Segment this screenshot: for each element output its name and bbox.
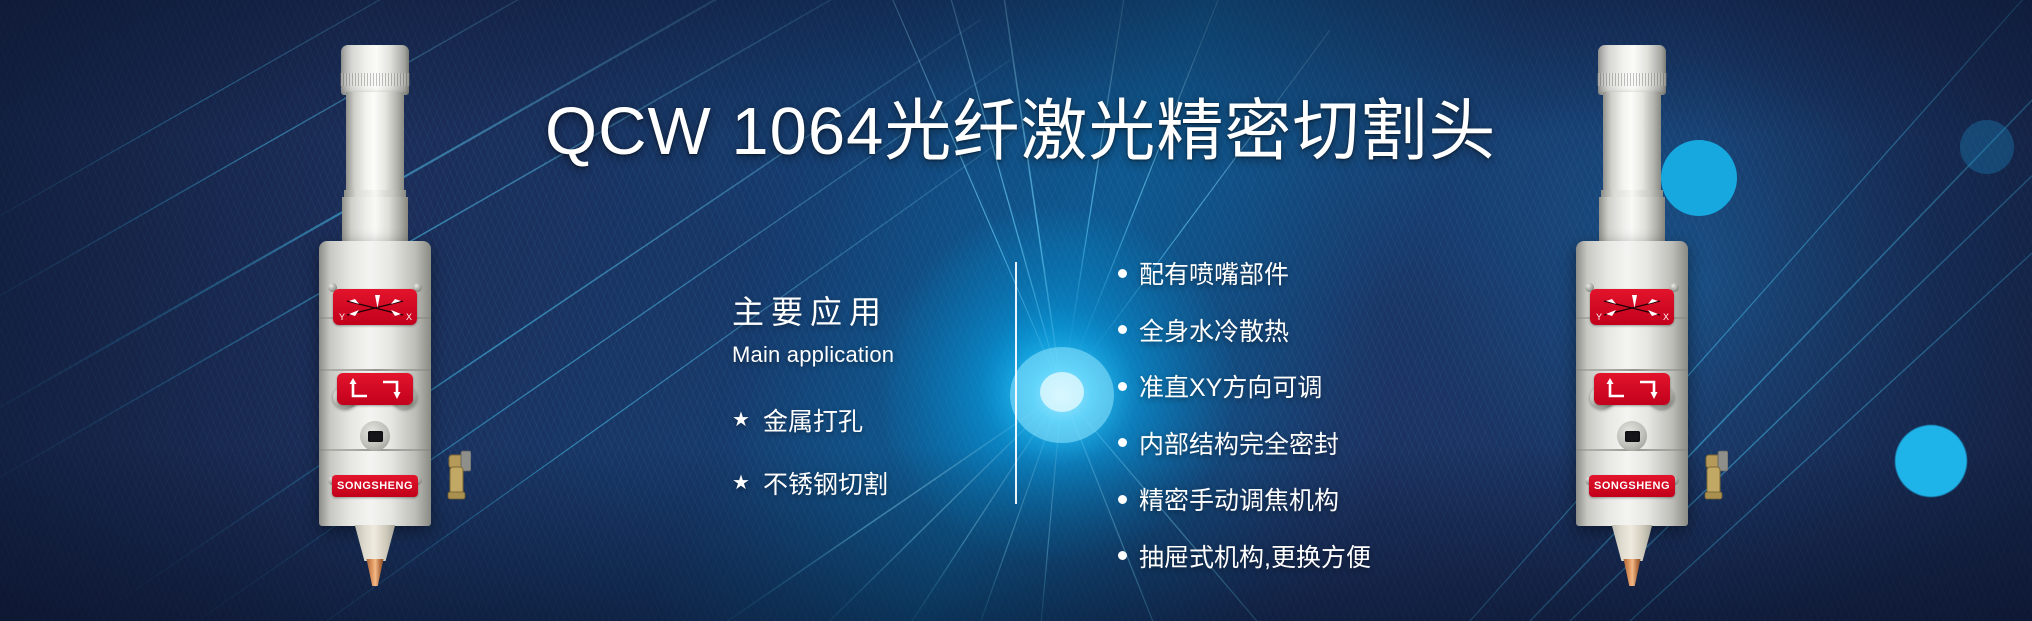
bullet-dot-icon xyxy=(1118,495,1127,504)
list-item: 全身水冷散热 xyxy=(1118,312,1371,348)
axis-label-x: X xyxy=(1663,312,1669,322)
head-lower-tube xyxy=(1599,197,1665,244)
xy-arrows-icon: Y X xyxy=(1590,289,1674,325)
list-item: 内部结构完全密封 xyxy=(1118,425,1371,461)
bullet-dot-icon xyxy=(1118,269,1127,278)
brand-label: SONGSHENG xyxy=(332,475,418,497)
list-item: 配有喷嘴部件 xyxy=(1118,255,1371,291)
sight-window-inner xyxy=(368,431,383,442)
feature-list: 配有喷嘴部件 全身水冷散热 准直XY方向可调 内部结构完全密封 精密手动调焦机构… xyxy=(1118,255,1371,594)
axis-label-x: X xyxy=(406,312,412,322)
head-knurled-ring xyxy=(340,73,410,86)
xy-alignment-label: Y X xyxy=(1590,289,1674,325)
vertical-divider xyxy=(1015,262,1017,504)
main-application-heading-cn: 主要应用 xyxy=(732,287,1022,333)
drawer-arrows-icon xyxy=(337,373,413,405)
sight-window xyxy=(1617,421,1647,451)
feature-item-label: 全身水冷散热 xyxy=(1139,312,1289,348)
xy-alignment-label: Y X xyxy=(333,289,417,325)
main-application-block: 主要应用 Main application ★ 金属打孔 ★ 不锈钢切割 xyxy=(732,287,1022,528)
application-item-label: 金属打孔 xyxy=(763,402,863,438)
product-banner: Y X SONGSHENG xyxy=(0,0,2032,621)
head-collimator-tube xyxy=(1603,92,1661,196)
drawer-direction-label xyxy=(337,373,413,405)
bullet-dot-icon xyxy=(1118,325,1127,334)
bullet-dot-icon xyxy=(1118,551,1127,560)
head-top-cap xyxy=(341,45,409,95)
banner-title: QCW 1064光纤激光精密切割头 xyxy=(545,98,1496,165)
decorative-circle-faint xyxy=(1960,120,2014,174)
list-item: 精密手动调焦机构 xyxy=(1118,481,1371,517)
axis-label-y: Y xyxy=(339,312,345,322)
list-item: ★ 不锈钢切割 xyxy=(732,465,1022,501)
application-item-label: 不锈钢切割 xyxy=(763,465,888,501)
decorative-circle-top xyxy=(1661,140,1737,216)
axis-label-y: Y xyxy=(1596,312,1602,322)
star-icon: ★ xyxy=(732,473,750,493)
feature-item-label: 内部结构完全密封 xyxy=(1139,425,1339,461)
head-lower-tube xyxy=(342,197,408,244)
feature-item-label: 准直XY方向可调 xyxy=(1139,368,1322,404)
brand-label: SONGSHENG xyxy=(1589,475,1675,497)
drawer-arrows-icon xyxy=(1594,373,1670,405)
air-fitting xyxy=(1698,449,1728,503)
feature-item-label: 精密手动调焦机构 xyxy=(1139,481,1339,517)
sight-window-inner xyxy=(1625,431,1640,442)
list-item: 准直XY方向可调 xyxy=(1118,368,1371,404)
feature-item-label: 抽屉式机构,更换方便 xyxy=(1139,538,1371,574)
body-seam-mid xyxy=(319,369,431,371)
head-collimator-tube xyxy=(346,92,404,196)
air-fitting xyxy=(441,449,471,503)
star-icon: ★ xyxy=(732,410,750,430)
head-top-cap xyxy=(1598,45,1666,95)
application-list: ★ 金属打孔 ★ 不锈钢切割 xyxy=(732,402,1022,501)
body-seam-mid xyxy=(1576,369,1688,371)
list-item: ★ 金属打孔 xyxy=(732,402,1022,438)
drawer-direction-label xyxy=(1594,373,1670,405)
head-knurled-ring xyxy=(1597,73,1667,86)
list-item: 抽屉式机构,更换方便 xyxy=(1118,538,1371,574)
bullet-dot-icon xyxy=(1118,438,1127,447)
sight-window xyxy=(360,421,390,451)
bullet-dot-icon xyxy=(1118,382,1127,391)
decorative-circle-bottom xyxy=(1895,425,1967,497)
feature-item-label: 配有喷嘴部件 xyxy=(1139,255,1289,291)
main-application-heading-en: Main application xyxy=(732,342,1022,368)
xy-arrows-icon: Y X xyxy=(333,289,417,325)
